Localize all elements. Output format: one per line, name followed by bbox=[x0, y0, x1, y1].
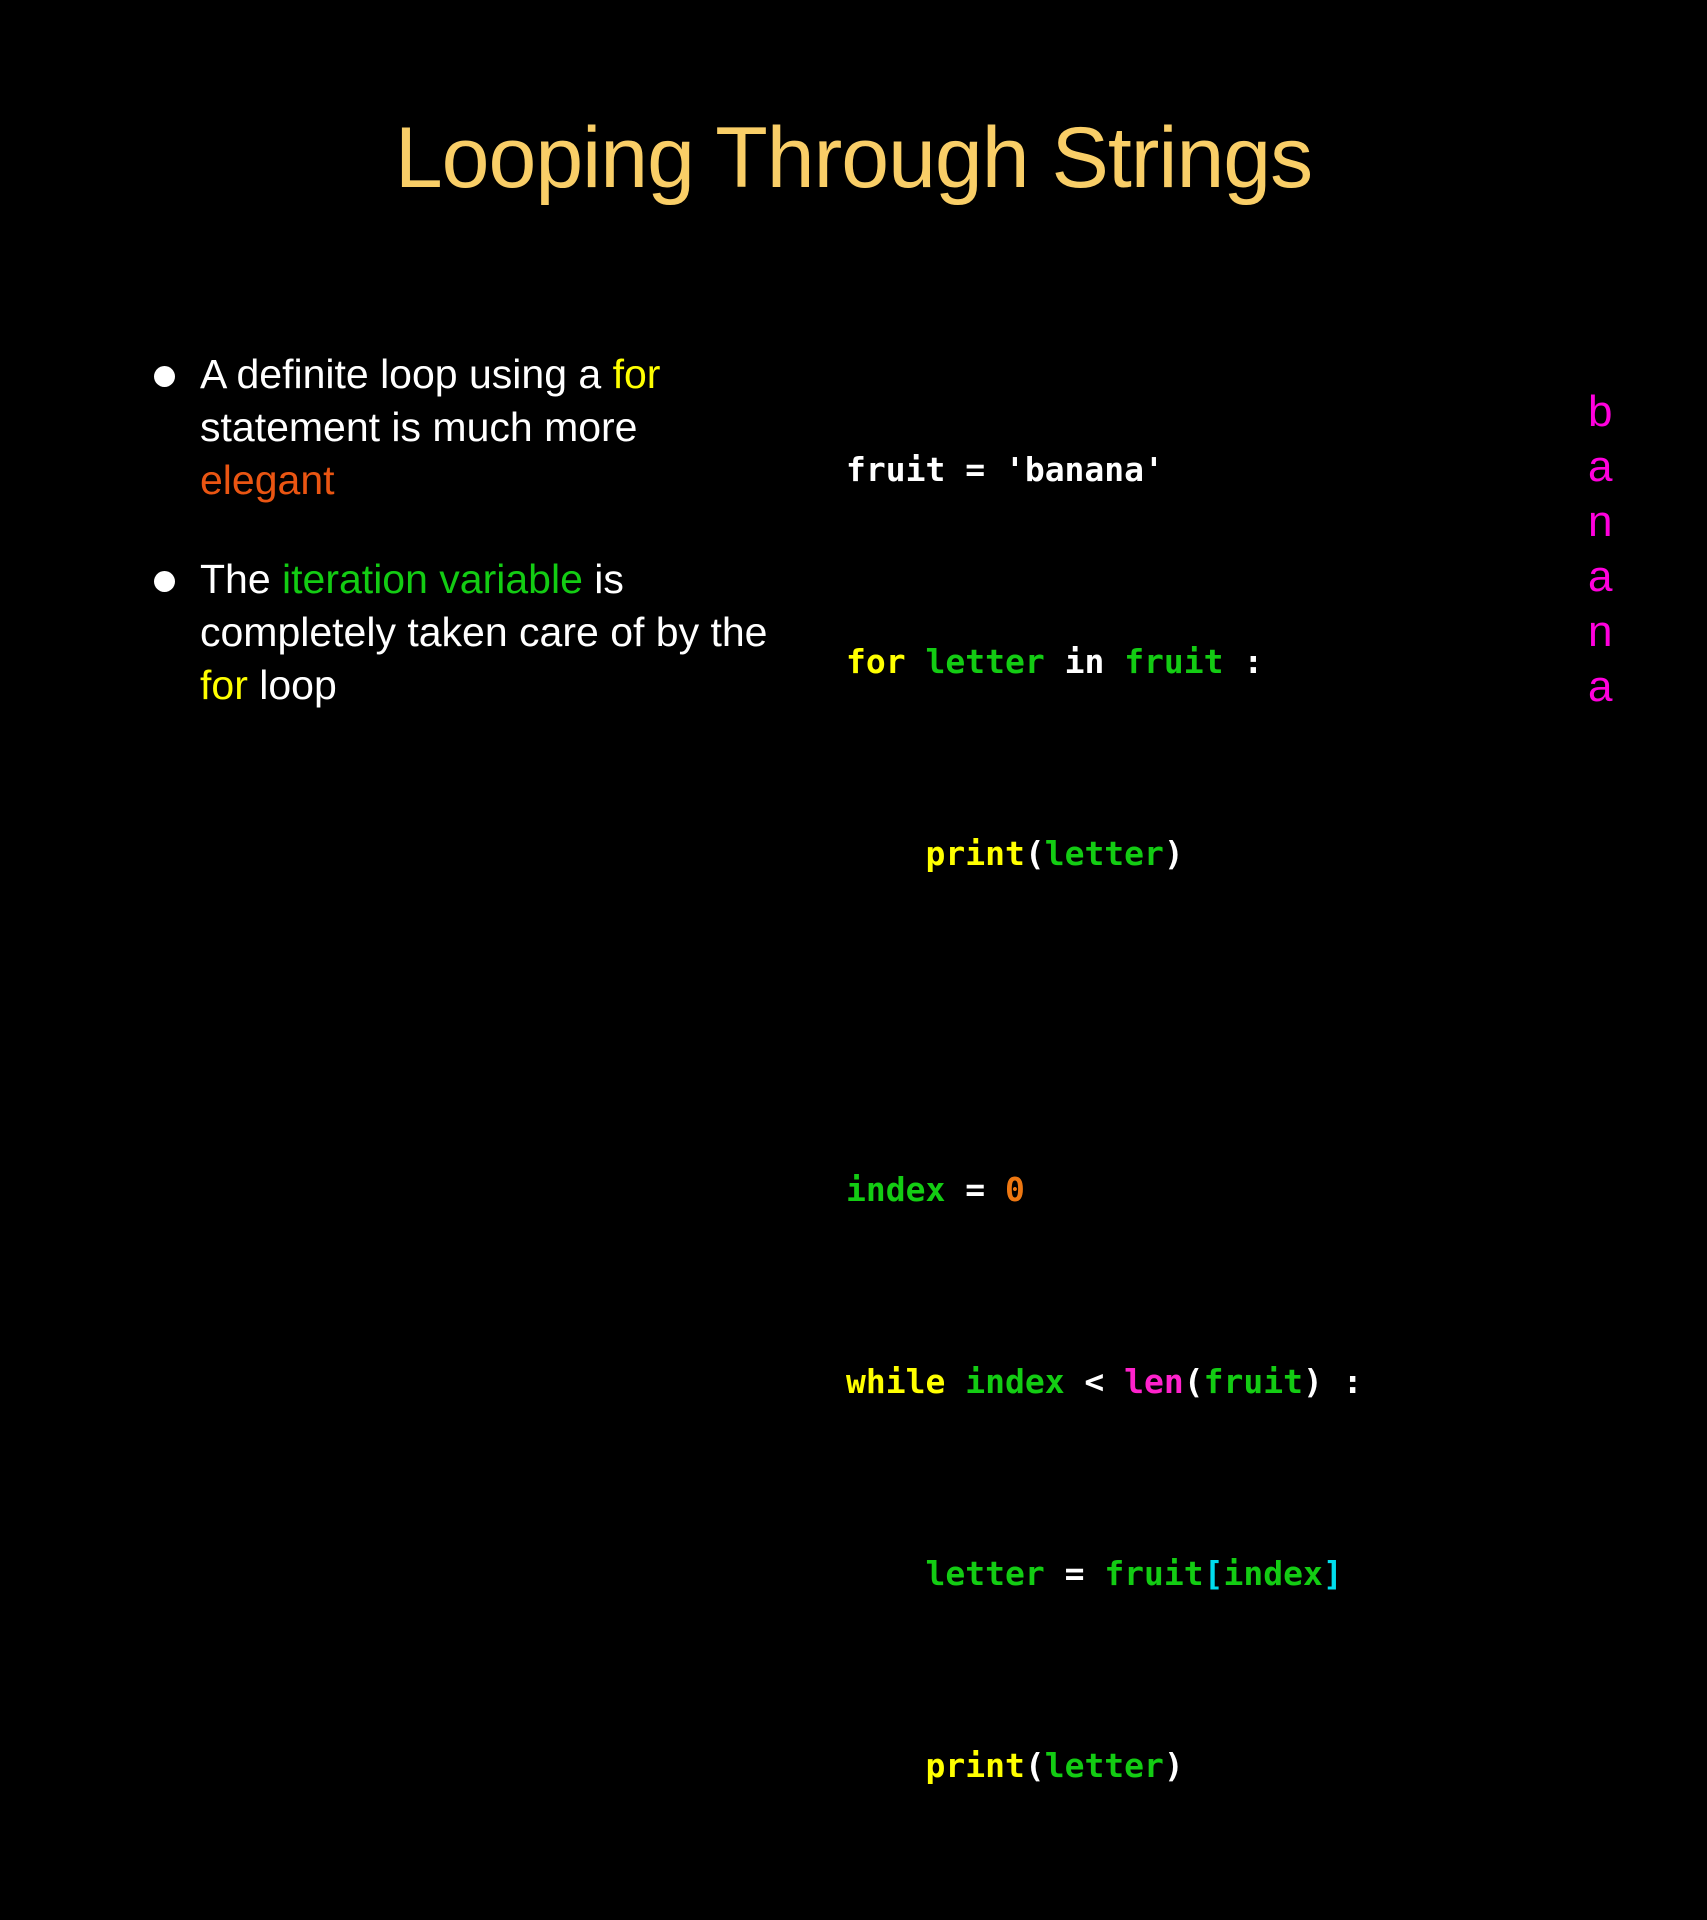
output-char: a bbox=[1588, 549, 1658, 604]
token-keyword-while: while bbox=[846, 1362, 945, 1401]
token-arg-fruit: fruit bbox=[1204, 1362, 1303, 1401]
token-var-index: index bbox=[846, 1170, 945, 1209]
token-number-zero: 0 bbox=[1005, 1170, 1025, 1209]
token-var-fruit: fruit bbox=[1104, 1554, 1203, 1593]
token-less-than: < bbox=[1065, 1362, 1125, 1401]
token-lparen: ( bbox=[1025, 834, 1045, 873]
token-string-banana: 'banana' bbox=[1005, 450, 1164, 489]
token-colon: : bbox=[1323, 1362, 1363, 1401]
token-rparen: ) bbox=[1164, 834, 1184, 873]
token-assign: = bbox=[1045, 1554, 1105, 1593]
token-space bbox=[945, 1362, 965, 1401]
bullet-1-highlight-elegant: elegant bbox=[200, 457, 335, 503]
token-rbracket: ] bbox=[1323, 1554, 1343, 1593]
bullet-1-segment-plain-1: A definite loop using a bbox=[200, 351, 613, 397]
bullet-2-segment-plain-3: loop bbox=[248, 662, 337, 708]
token-space bbox=[906, 642, 926, 681]
token-colon: : bbox=[1224, 642, 1264, 681]
token-assign: = bbox=[945, 1170, 1005, 1209]
program-output-banana: b a n a n a bbox=[1588, 384, 1658, 714]
token-function-print: print bbox=[925, 834, 1024, 873]
output-char: n bbox=[1588, 494, 1658, 549]
token-var-fruit: fruit bbox=[846, 450, 945, 489]
bullet-2-segment-plain-1: The bbox=[200, 556, 282, 602]
token-arg-letter: letter bbox=[1045, 1746, 1164, 1785]
bullet-1-keyword-for: for bbox=[613, 351, 661, 397]
token-rparen: ) bbox=[1164, 1746, 1184, 1785]
token-indent bbox=[846, 834, 925, 873]
bullet-2-highlight-iteration-variable: iteration variable bbox=[282, 556, 583, 602]
bullet-1-segment-plain-2: statement is much more bbox=[200, 404, 638, 450]
code-area: fruit = 'banana' for letter in fruit : p… bbox=[846, 350, 1486, 1920]
bullet-dot-icon bbox=[154, 366, 175, 387]
token-keyword-in: in bbox=[1045, 642, 1124, 681]
token-indent bbox=[846, 1746, 925, 1785]
token-keyword-for: for bbox=[846, 642, 906, 681]
code-line: print(letter) bbox=[846, 1742, 1486, 1790]
list-item: The iteration variable is completely tak… bbox=[148, 553, 768, 712]
output-char: a bbox=[1588, 439, 1658, 494]
output-char: b bbox=[1588, 384, 1658, 439]
bullet-dot-icon bbox=[154, 571, 175, 592]
token-lbracket: [ bbox=[1204, 1554, 1224, 1593]
bullet-text-1: A definite loop using a for statement is… bbox=[200, 348, 768, 507]
code-line: fruit = 'banana' bbox=[846, 446, 1486, 494]
code-line: for letter in fruit : bbox=[846, 638, 1486, 686]
slide-canvas: Looping Through Strings A definite loop … bbox=[0, 0, 1707, 960]
bullet-2-keyword-for: for bbox=[200, 662, 248, 708]
token-lparen: ( bbox=[1025, 1746, 1045, 1785]
token-rparen: ) bbox=[1303, 1362, 1323, 1401]
bullet-text-2: The iteration variable is completely tak… bbox=[200, 553, 768, 712]
token-assign: = bbox=[945, 450, 1005, 489]
token-var-letter: letter bbox=[925, 1554, 1044, 1593]
bullet-list: A definite loop using a for statement is… bbox=[148, 348, 768, 758]
page-title: Looping Through Strings bbox=[0, 108, 1707, 208]
output-char: a bbox=[1588, 659, 1658, 714]
token-arg-letter: letter bbox=[1045, 834, 1164, 873]
token-var-fruit: fruit bbox=[1124, 642, 1223, 681]
token-indent bbox=[846, 1554, 925, 1593]
code-block-for-loop: fruit = 'banana' for letter in fruit : p… bbox=[846, 350, 1486, 974]
code-line: print(letter) bbox=[846, 830, 1486, 878]
token-builtin-len: len bbox=[1124, 1362, 1184, 1401]
output-char: n bbox=[1588, 604, 1658, 659]
token-var-letter: letter bbox=[925, 642, 1044, 681]
code-line: while index < len(fruit) : bbox=[846, 1358, 1486, 1406]
list-item: A definite loop using a for statement is… bbox=[148, 348, 768, 507]
token-lparen: ( bbox=[1184, 1362, 1204, 1401]
token-index-expr: index bbox=[1224, 1554, 1323, 1593]
token-function-print: print bbox=[925, 1746, 1024, 1785]
code-block-while-loop: index = 0 while index < len(fruit) : let… bbox=[846, 1070, 1486, 1920]
code-line: letter = fruit[index] bbox=[846, 1550, 1486, 1598]
token-var-index: index bbox=[965, 1362, 1064, 1401]
code-line: index = 0 bbox=[846, 1166, 1486, 1214]
